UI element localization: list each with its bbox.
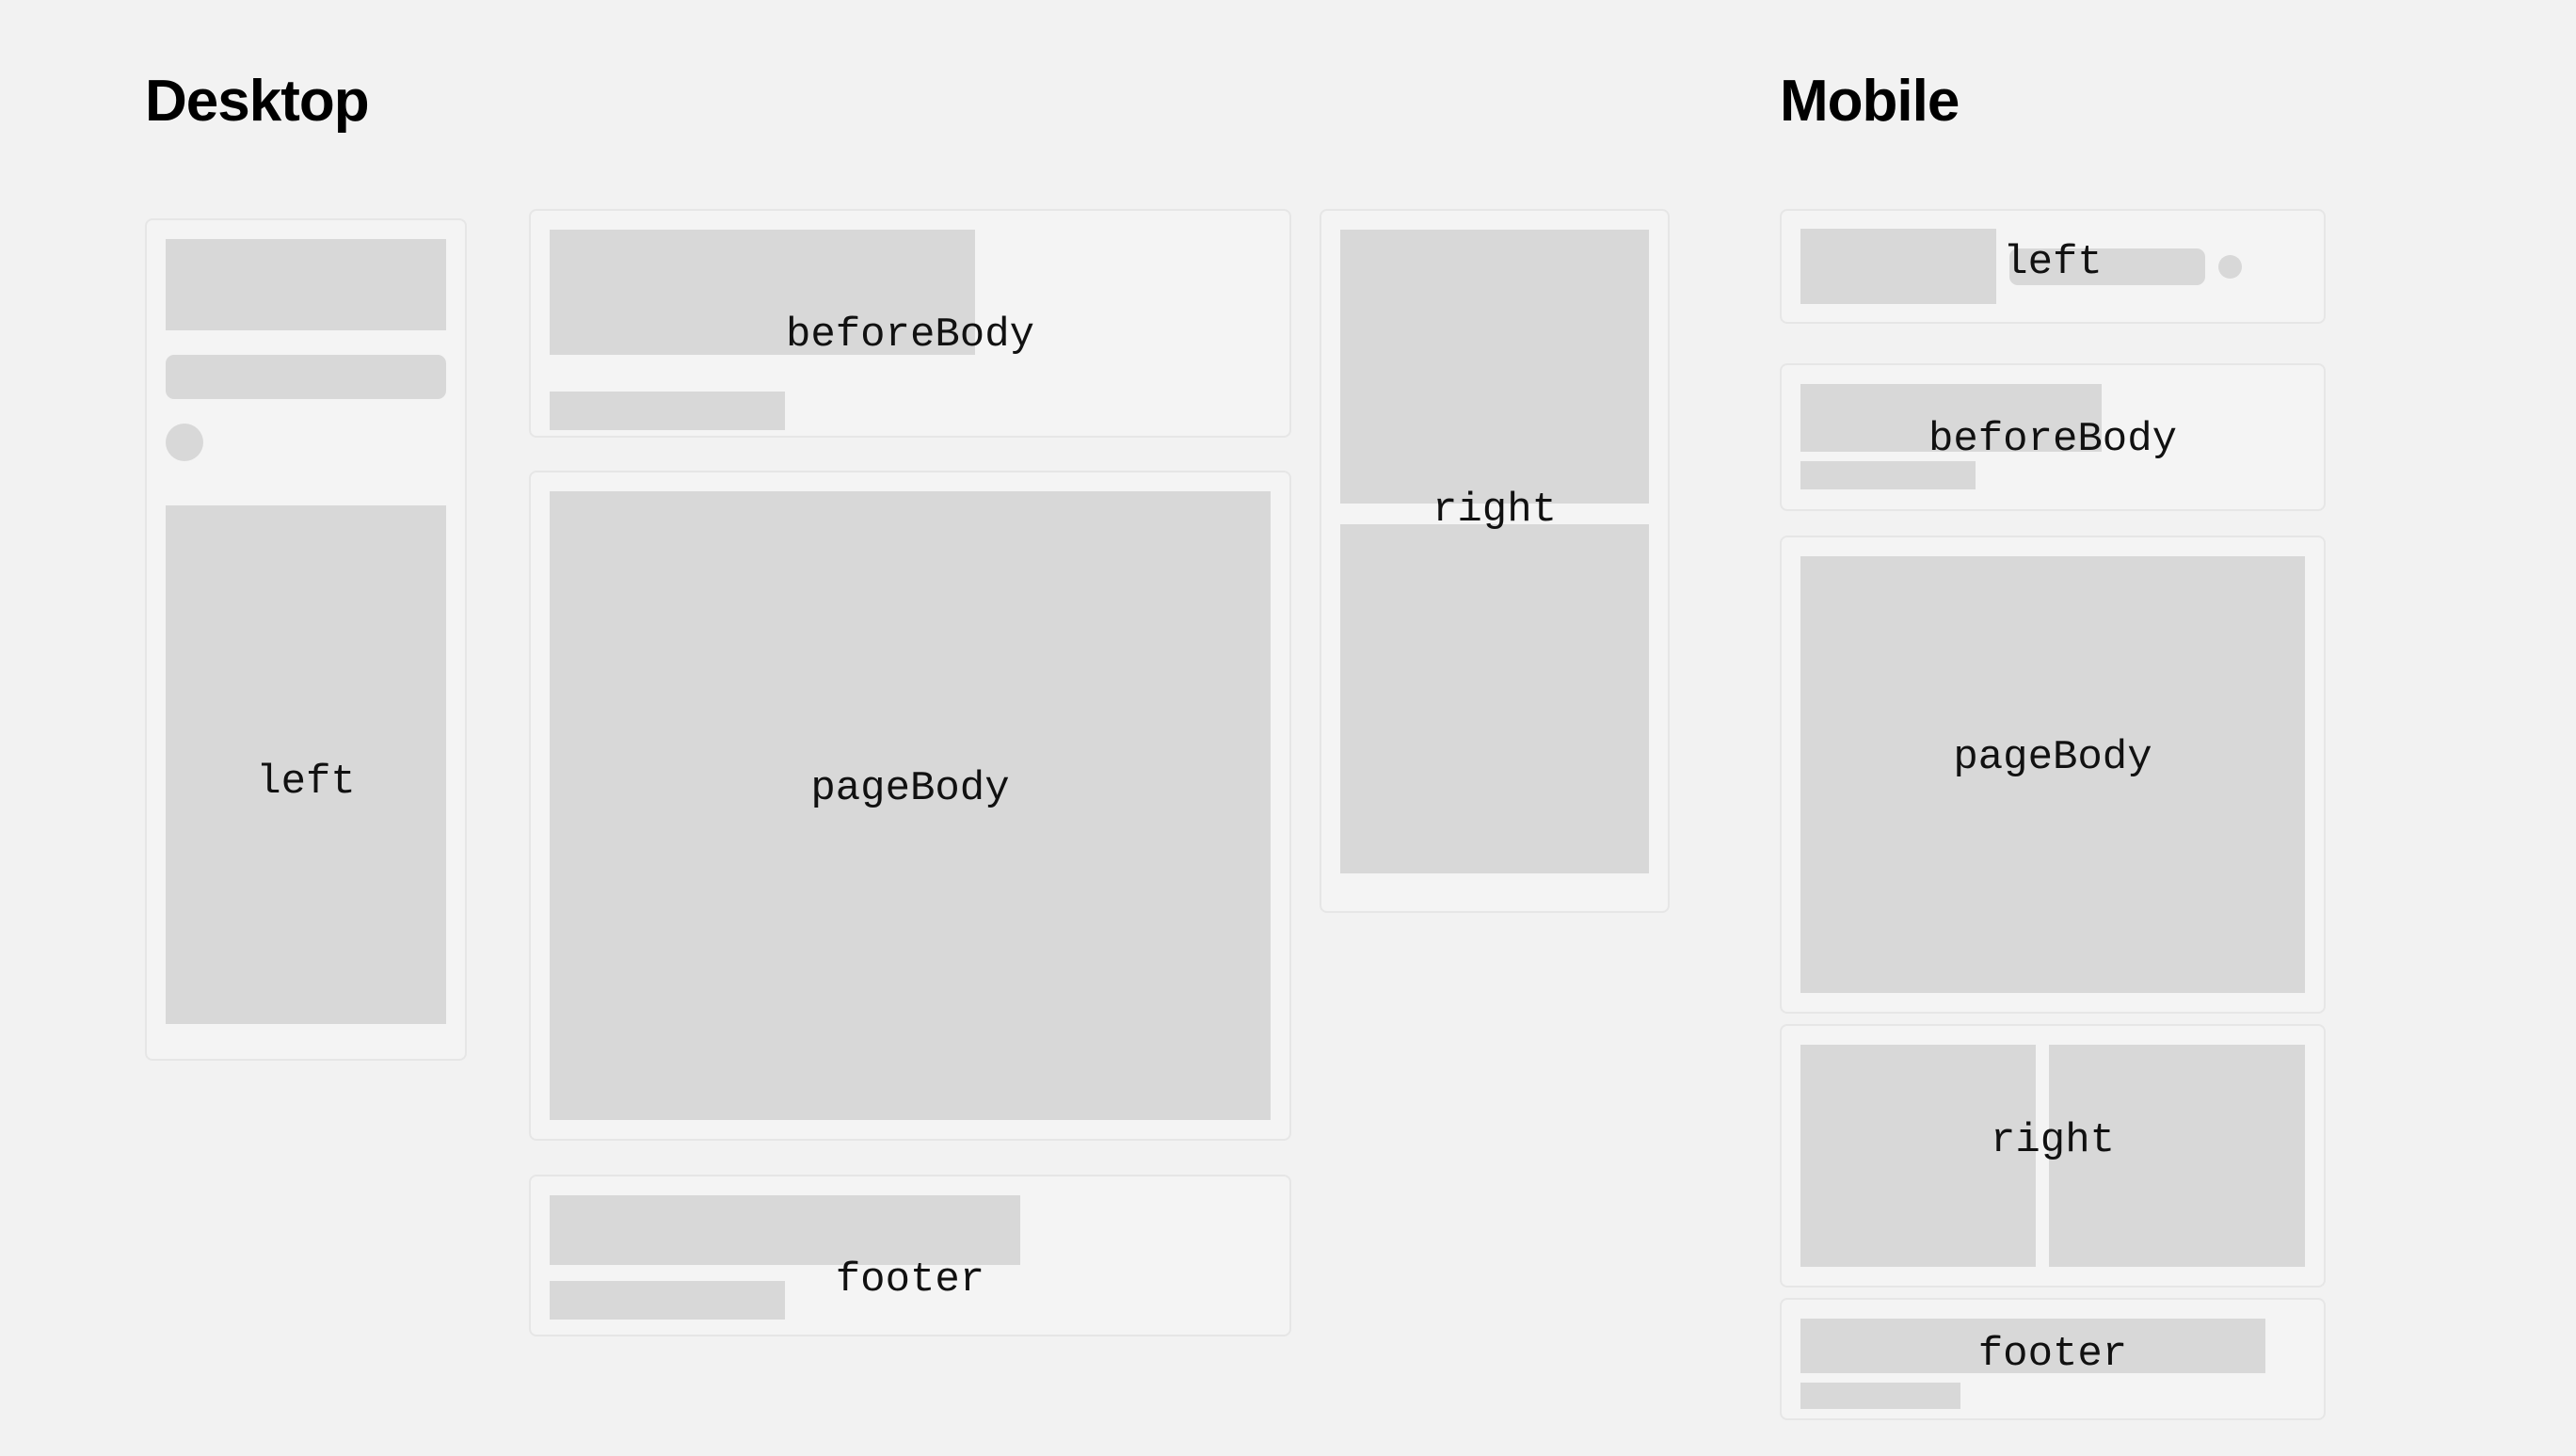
skeleton-bar [550,1281,785,1320]
mobile-slot-pagebody-card[interactable]: pageBody [1780,536,2326,1014]
skeleton-stack [1340,230,1649,873]
skeleton-block [166,239,446,330]
skeleton-row [1800,230,2305,303]
skeleton-stack [166,239,446,1024]
skeleton-stack [550,1195,1271,1320]
skeleton-block [1800,1319,2265,1373]
skeleton-bar [2009,248,2205,285]
skeleton-block [1800,384,2102,452]
skeleton-panel [1340,524,1649,873]
skeleton-stack [550,230,1271,430]
mobile-slot-left-card[interactable]: left [1780,209,2326,324]
mobile-slot-right-card[interactable]: right [1780,1024,2326,1288]
skeleton-block [550,230,975,355]
skeleton-panel [166,505,446,1024]
desktop-slot-pagebody-card[interactable]: pageBody [529,471,1291,1141]
desktop-slot-footer-card[interactable]: footer [529,1175,1291,1336]
skeleton-bar [1800,1383,1960,1409]
desktop-slot-left-card[interactable]: left [145,218,467,1061]
mobile-slot-beforebody-card[interactable]: beforeBody [1780,363,2326,511]
skeleton-panel [1800,556,2305,993]
skeleton-panel [1340,230,1649,504]
skeleton-stack [1800,384,2305,489]
desktop-section-heading: Desktop [145,72,369,131]
skeleton-avatar-circle [166,424,203,461]
skeleton-bar [1800,461,1976,489]
desktop-slot-right-card[interactable]: right [1320,209,1670,913]
mobile-slot-footer-card[interactable]: footer [1780,1298,2326,1420]
skeleton-block [1800,229,1996,304]
skeleton-stack [1800,1319,2305,1409]
skeleton-panel [550,491,1271,1120]
skeleton-row [1800,1045,2305,1267]
skeleton-bar [550,392,785,430]
skeleton-block [550,1195,1020,1265]
desktop-slot-beforebody-card[interactable]: beforeBody [529,209,1291,438]
skeleton-avatar-circle [2218,255,2242,279]
layout-preview-canvas: Desktop left beforeBody pageBody right [0,0,2576,1456]
mobile-section-heading: Mobile [1780,72,1959,131]
skeleton-bar [166,355,446,399]
skeleton-panel [1800,1045,2036,1267]
skeleton-panel [2049,1045,2305,1267]
